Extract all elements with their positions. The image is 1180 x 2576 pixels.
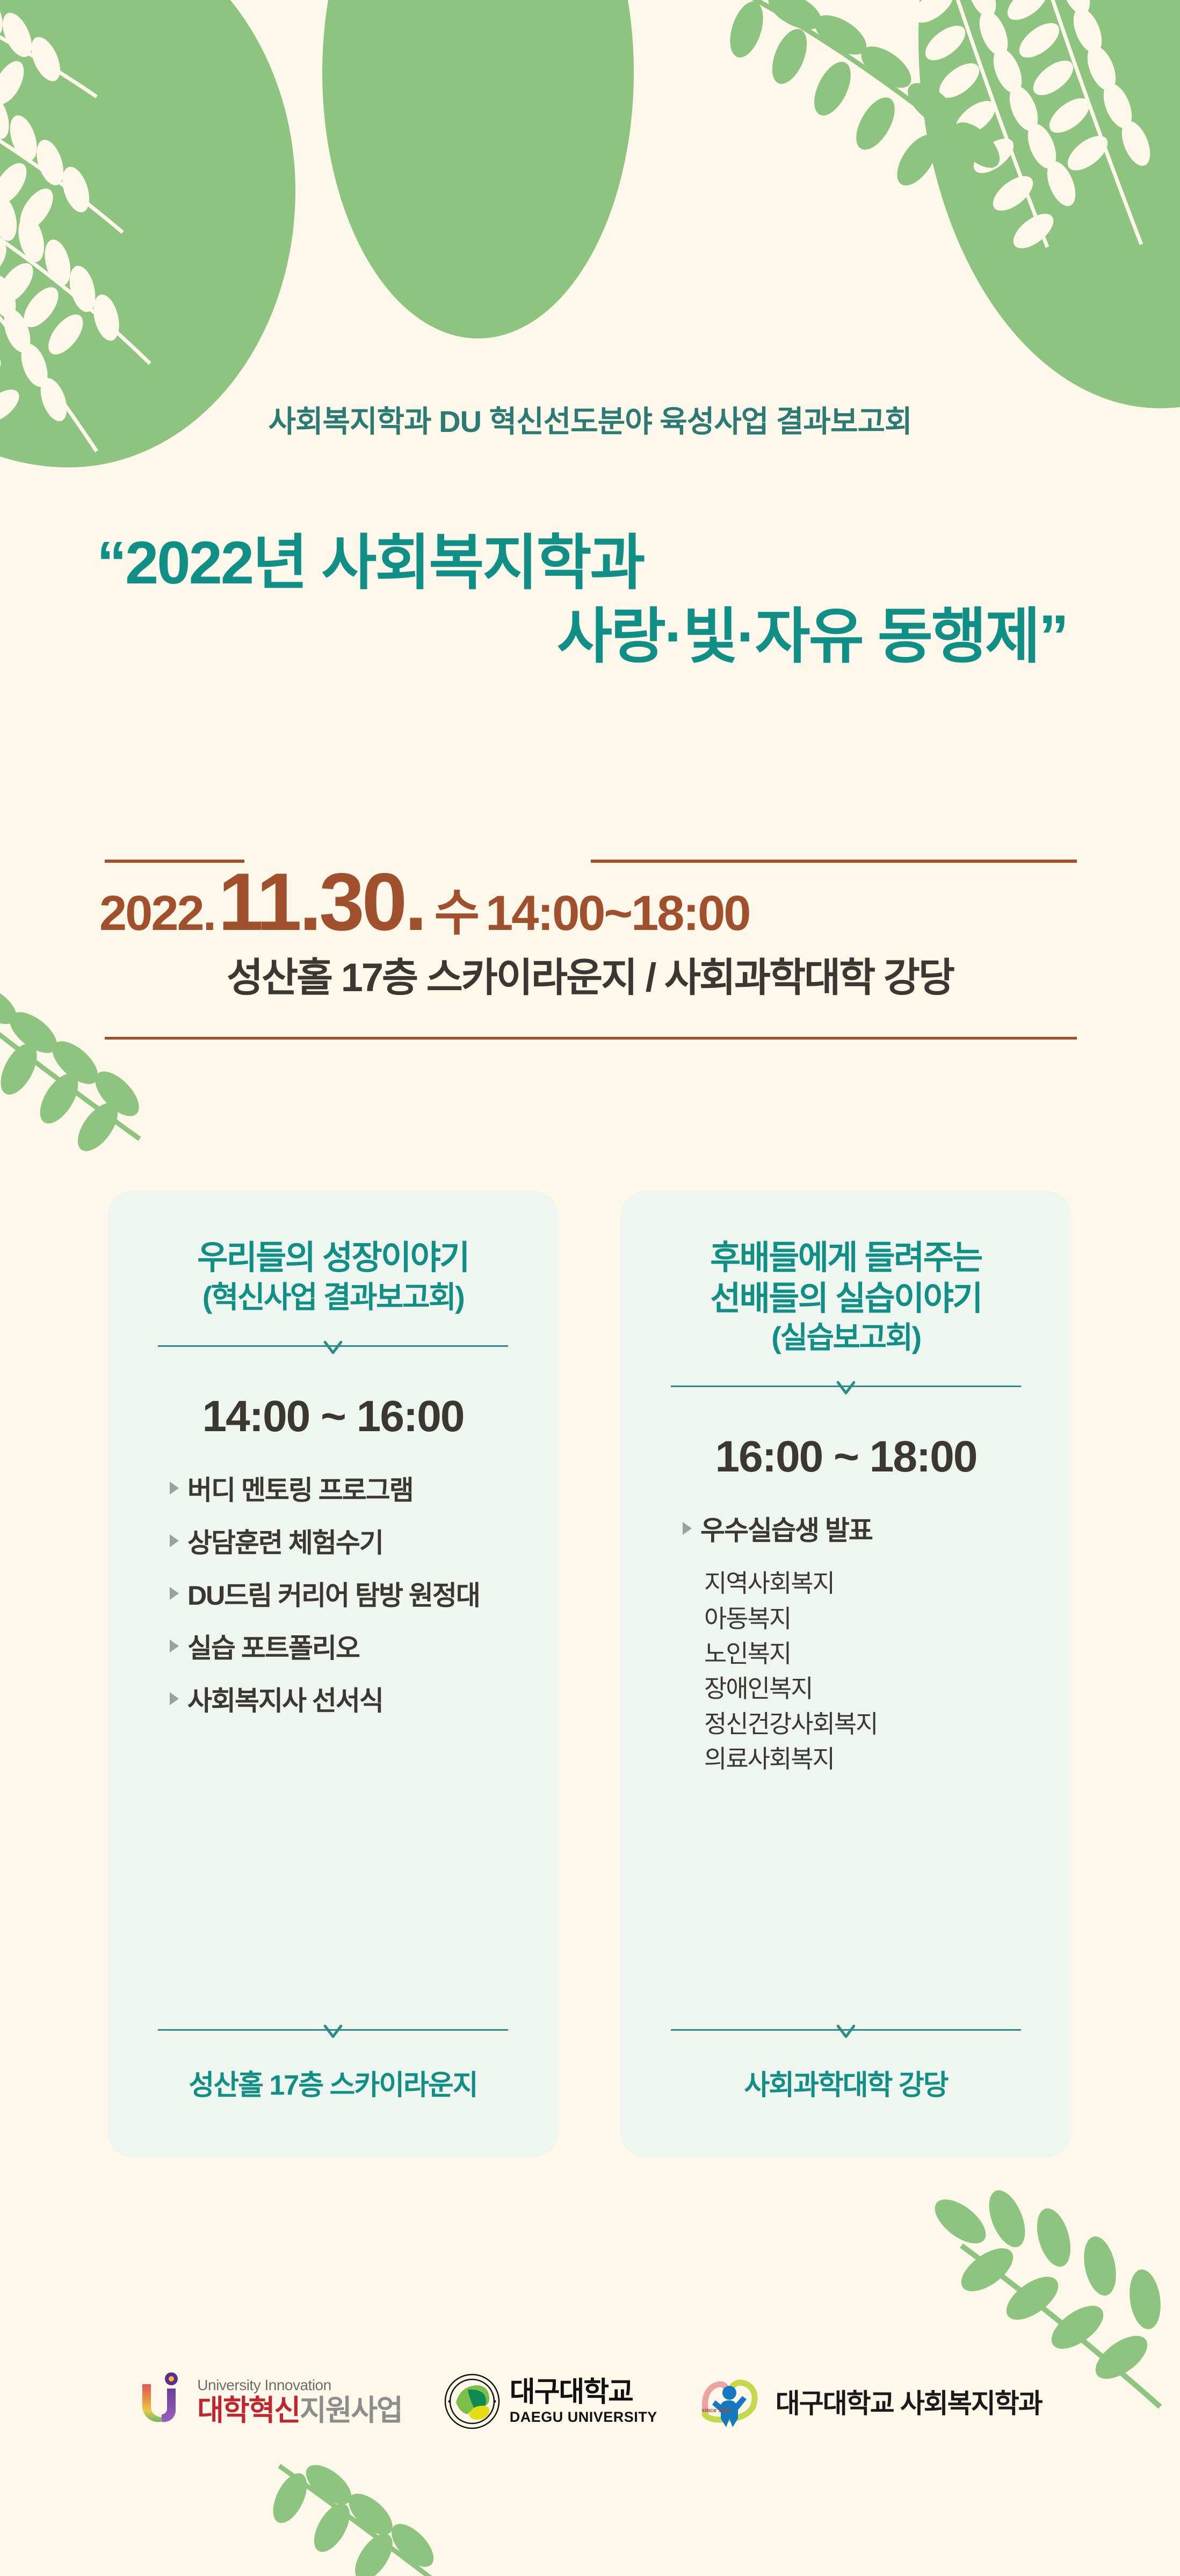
- ui-logo-text: University Innovation 대학혁신지원사업: [197, 2378, 402, 2425]
- card-venue: 성산홀 17층 스카이라운지: [140, 2062, 526, 2103]
- card-title-line-1: 후배들에게 들려주는: [710, 1239, 982, 1276]
- sub-list-item: 의료사회복지: [704, 1742, 1039, 1777]
- triangle-bullet-icon: [170, 1482, 179, 1495]
- card-item-list: 우수실습생 발표 지역사회복지 아동복지 노인복지 장애인복지 정신건강사회복지…: [683, 1513, 1039, 1777]
- date-row: 2022. 11.30. 수 14:00~18:00: [99, 855, 1083, 949]
- card-footer: 사회과학대학 강당: [653, 2000, 1039, 2125]
- date-monthday: 11.30.: [218, 855, 424, 949]
- list-item: 버디 멘토링 프로그램: [170, 1473, 526, 1507]
- card-title: 우리들의 성장이야기: [140, 1238, 526, 1279]
- date-year: 2022.: [99, 885, 215, 942]
- list-item-label: 버디 멘토링 프로그램: [187, 1473, 413, 1507]
- date-weekday: 수: [434, 873, 478, 944]
- triangle-bullet-icon: [170, 1534, 179, 1547]
- sub-list-item: 지역사회복지: [704, 1566, 1039, 1601]
- list-item: 사회복지사 선서식: [170, 1684, 526, 1718]
- list-item-label: 실습 포트폴리오: [187, 1631, 359, 1665]
- date-time: 14:00~18:00: [486, 885, 749, 942]
- poster-title: “2022년 사회복지학과 사랑·빛·자유 동행제”: [81, 526, 1099, 673]
- chevron-down-icon: [324, 2025, 342, 2039]
- session-card-practicum-story[interactable]: 후배들에게 들려주는 선배들의 실습이야기 (실습보고회) 16:00 ~ 18…: [620, 1190, 1072, 2158]
- card-divider-top: [671, 1380, 1021, 1398]
- logo-daegu-university: 대구대학교 DAEGU UNIVERSITY: [444, 2373, 657, 2429]
- list-item: 우수실습생 발표: [683, 1513, 1039, 1548]
- card-divider-bottom: [158, 2024, 508, 2042]
- venue-rule: [105, 1037, 1077, 1040]
- footer-logos: University Innovation 대학혁신지원사업 대구대학교 DAE…: [0, 2348, 1180, 2455]
- poster-title-line-2: 사랑·빛·자유 동행제”: [81, 600, 1099, 674]
- list-item-label: 사회복지사 선서식: [187, 1684, 383, 1718]
- main-venue-line: 성산홀 17층 스카이라운지 / 사회과학대학 강당: [0, 946, 1180, 1003]
- list-item: 실습 포트폴리오: [170, 1631, 526, 1665]
- card-subtitle: (실습보고회): [653, 1319, 1039, 1356]
- du-logo-korean: 대구대학교: [510, 2378, 657, 2406]
- chevron-down-icon: [837, 2025, 855, 2039]
- card-item-list: 버디 멘토링 프로그램 상담훈련 체험수기 DU드림 커리어 탐방 원정대 실습…: [170, 1473, 526, 1736]
- list-item-label: 상담훈련 체험수기: [187, 1526, 383, 1560]
- ui-logo-title: 대학혁신지원사업: [197, 2396, 402, 2425]
- event-poster: 사회복지학과 DU 혁신선도분야 육성사업 결과보고회 “2022년 사회복지학…: [0, 0, 1180, 2576]
- ui-logo-title-gray: 지원사업: [300, 2394, 402, 2427]
- card-subtitle: (혁신사업 결과보고회): [140, 1279, 526, 1316]
- dept-logo-text: 대구대학교 사회복지학과: [776, 2382, 1042, 2421]
- triangle-bullet-icon: [170, 1692, 179, 1705]
- du-logo-text: 대구대학교 DAEGU UNIVERSITY: [510, 2378, 657, 2425]
- sub-list-item: 정신건강사회복지: [704, 1707, 1039, 1742]
- logo-university-innovation: University Innovation 대학혁신지원사업: [138, 2372, 402, 2430]
- list-item-label: 우수실습생 발표: [700, 1513, 872, 1548]
- poster-eyebrow: 사회복지학과 DU 혁신선도분야 육성사업 결과보고회: [0, 398, 1180, 441]
- ui-monogram-icon: [138, 2372, 187, 2430]
- daegu-university-seal-icon: [444, 2373, 500, 2429]
- card-title-line-2: 선배들의 실습이야기: [710, 1280, 982, 1317]
- card-footer: 성산홀 17층 스카이라운지: [140, 2000, 526, 2125]
- list-item-label: DU드림 커리어 탐방 원정대: [187, 1578, 480, 1613]
- decor-sprig-bottom-left: [269, 2460, 462, 2576]
- card-venue: 사회과학대학 강당: [653, 2062, 1039, 2103]
- since-label: since 1964: [701, 2407, 732, 2414]
- card-divider-bottom: [671, 2024, 1021, 2042]
- list-item: DU드림 커리어 탐방 원정대: [170, 1578, 526, 1613]
- card-time: 16:00 ~ 18:00: [653, 1432, 1039, 1482]
- session-card-growth-story[interactable]: 우리들의 성장이야기 (혁신사업 결과보고회) 14:00 ~ 16:00 버디…: [107, 1190, 559, 2158]
- session-cards: 우리들의 성장이야기 (혁신사업 결과보고회) 14:00 ~ 16:00 버디…: [107, 1190, 1072, 2158]
- poster-title-line-1: “2022년 사회복지학과: [81, 526, 1099, 600]
- decor-blob-middle: [322, 0, 634, 338]
- decor-sprig-left-middle: [0, 988, 177, 1171]
- card-divider-top: [158, 1340, 508, 1358]
- triangle-bullet-icon: [683, 1522, 692, 1535]
- ui-logo-subtitle: University Innovation: [197, 2378, 402, 2393]
- triangle-bullet-icon: [170, 1587, 179, 1600]
- sub-list-item: 장애인복지: [704, 1671, 1039, 1706]
- du-logo-english: DAEGU UNIVERSITY: [510, 2410, 657, 2425]
- card-title: 후배들에게 들려주는 선배들의 실습이야기: [653, 1238, 1039, 1319]
- sub-list-item: 노인복지: [704, 1636, 1039, 1671]
- decor-blob-right: [918, 0, 1180, 408]
- logo-social-welfare-dept: since 1964 대구대학교 사회복지학과: [699, 2373, 1042, 2429]
- chevron-down-icon: [324, 1341, 342, 1355]
- card-subitem-list: 지역사회복지 아동복지 노인복지 장애인복지 정신건강사회복지 의료사회복지: [704, 1566, 1039, 1777]
- chevron-down-icon: [837, 1381, 855, 1395]
- triangle-bullet-icon: [170, 1640, 179, 1653]
- card-time: 14:00 ~ 16:00: [140, 1391, 526, 1442]
- list-item: 상담훈련 체험수기: [170, 1526, 526, 1560]
- ui-logo-title-red: 대학혁신: [197, 2394, 300, 2427]
- heart-person-icon: since 1964: [699, 2373, 766, 2429]
- sub-list-item: 아동복지: [704, 1601, 1039, 1636]
